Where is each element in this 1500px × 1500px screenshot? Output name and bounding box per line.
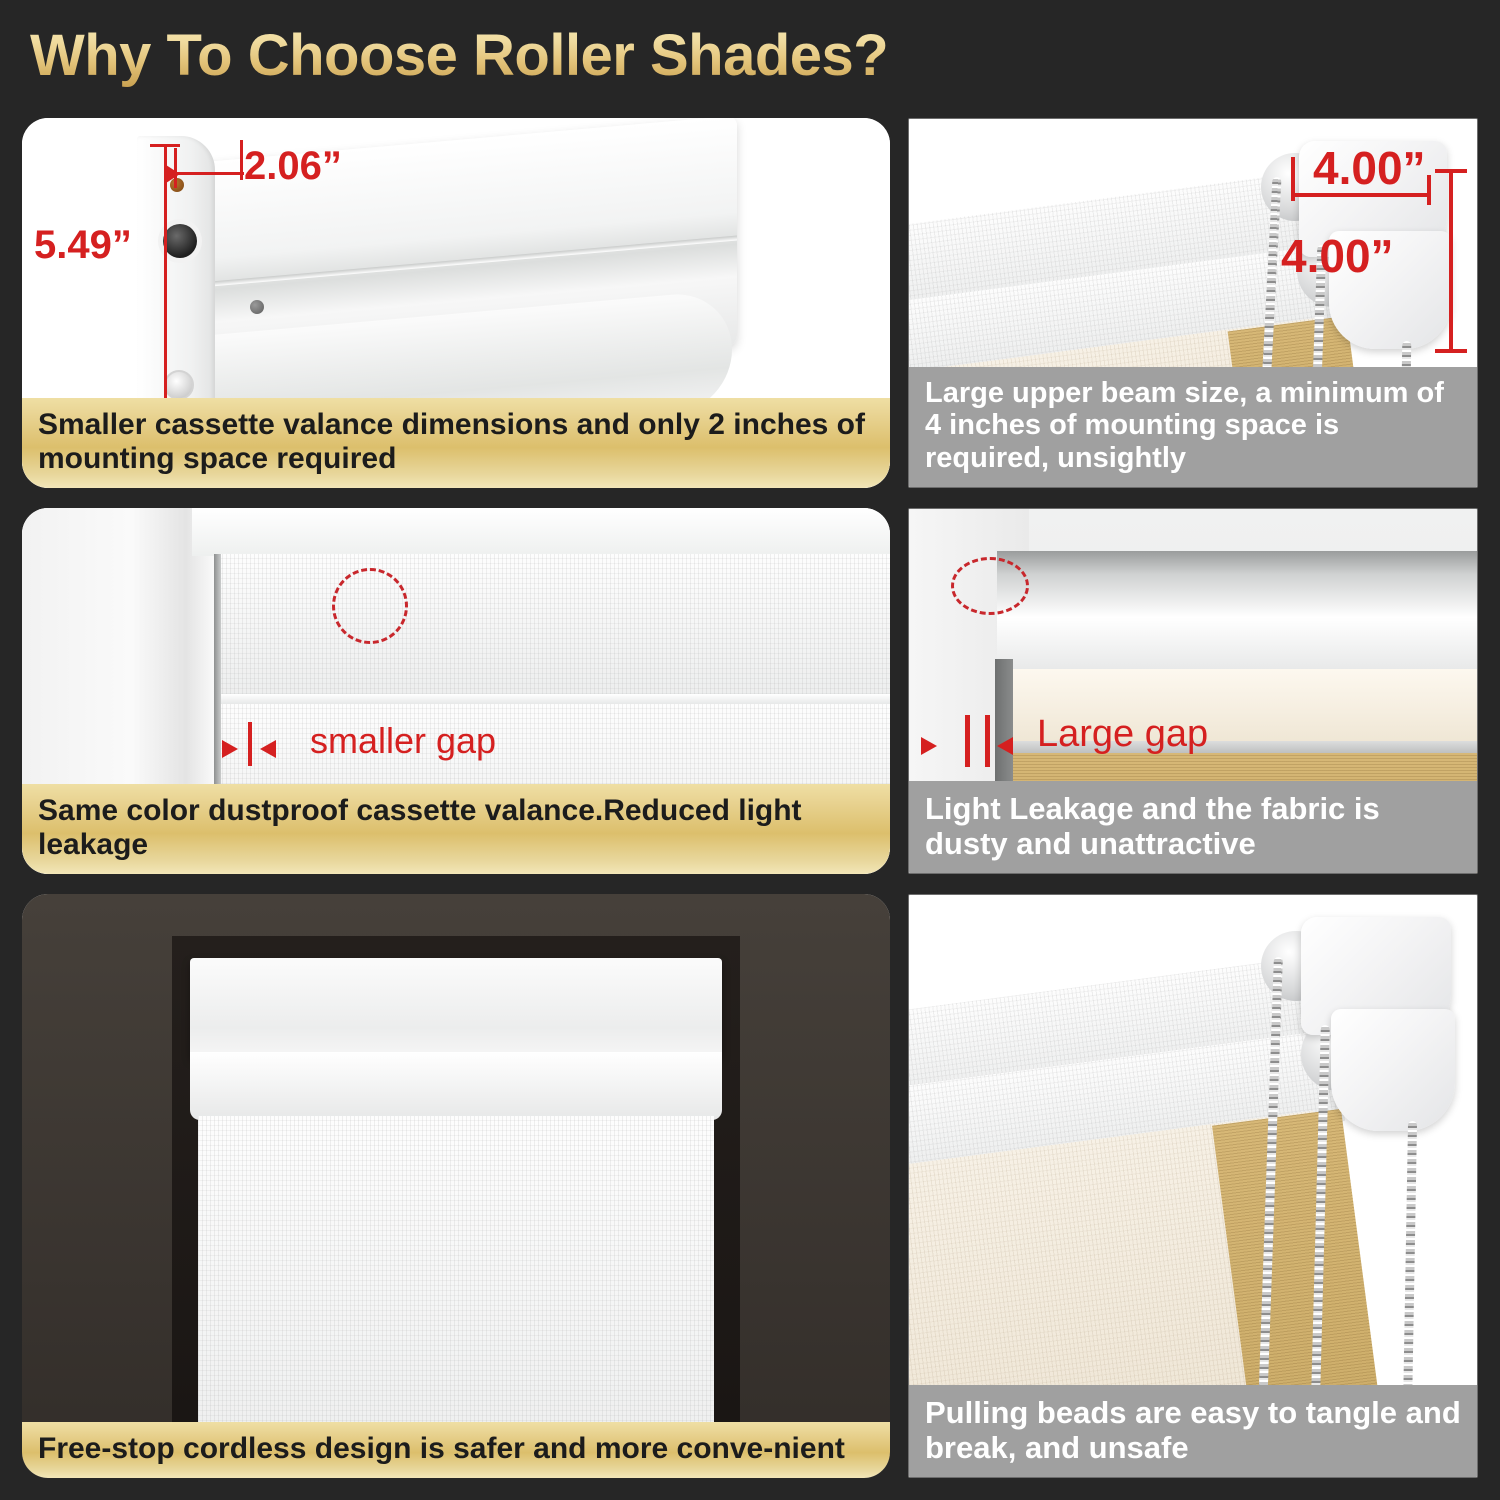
beam-width-tick-right	[1427, 175, 1431, 205]
cassette-valance	[190, 958, 722, 1058]
beam-height-line	[1449, 169, 1453, 353]
gap-marker-line	[985, 715, 990, 767]
panel-caption: Pulling beads are easy to tangle and bre…	[909, 1385, 1477, 1477]
gap-marker-line	[965, 715, 970, 767]
gap-callout-label: smaller gap	[310, 720, 496, 762]
valance-lower-lip	[190, 1052, 722, 1120]
comparison-grid: 2.06” 5.49” Smaller cassette valance dim…	[0, 0, 1500, 1500]
panel-light-leakage: Large gap Light Leakage and the fabric i…	[908, 508, 1478, 874]
height-dim-tick-top	[150, 144, 180, 147]
window-frame-top	[192, 508, 890, 556]
panel-cordless-design: Free-stop cordless design is safer and m…	[22, 894, 890, 1478]
bracket-slot-icon	[163, 224, 197, 258]
gap-arrow-left-icon	[997, 737, 1013, 755]
beam-height-tick-top	[1435, 169, 1467, 173]
panel-caption: Free-stop cordless design is safer and m…	[22, 1422, 890, 1478]
beam-height-label: 4.00”	[1281, 229, 1394, 283]
detail-highlight-circle	[332, 568, 408, 644]
cordless-room-photo	[22, 894, 890, 1478]
panel-large-upper-beam: 4.00” 4.00” Large upper beam size, a min…	[908, 118, 1478, 488]
head-rail	[997, 551, 1477, 679]
valance-face	[218, 554, 890, 704]
panel-caption: Light Leakage and the fabric is dusty an…	[909, 781, 1477, 873]
gap-callout-label: Large gap	[1037, 713, 1208, 756]
width-dim-line	[174, 172, 244, 175]
height-dim-line	[164, 144, 167, 440]
gap-arrow-left-icon	[260, 740, 276, 758]
gap-marker-line	[248, 722, 252, 766]
panel-caption: Large upper beam size, a minimum of 4 in…	[909, 367, 1477, 487]
panel-caption: Same color dustproof cassette valance.Re…	[22, 784, 890, 874]
panel-dustproof-valance: smaller gap Same color dustproof cassett…	[22, 508, 890, 874]
beam-width-label: 4.00”	[1313, 141, 1426, 195]
gap-arrow-right-icon	[222, 740, 238, 758]
beam-width-tick-left	[1291, 157, 1295, 201]
panel-caption: Smaller cassette valance dimensions and …	[22, 398, 890, 488]
width-dim-label: 2.06”	[244, 144, 342, 189]
bracket-pin-icon	[164, 370, 194, 400]
gap-arrow-right-icon	[921, 737, 937, 755]
beam-height-tick-bottom	[1435, 349, 1467, 353]
beam-bracket-lower	[1331, 1009, 1455, 1131]
infographic-root: Why To Choose Roller Shades? 2.06”	[0, 0, 1500, 1500]
height-dim-label: 5.49”	[34, 223, 132, 268]
panel-cassette-dimensions: 2.06” 5.49” Smaller cassette valance dim…	[22, 118, 890, 488]
bracket-screw-icon	[250, 300, 264, 314]
width-dim-arrow-icon	[166, 165, 180, 183]
detail-highlight-circle	[951, 557, 1029, 615]
panel-pulling-beads: Pulling beads are easy to tangle and bre…	[908, 894, 1478, 1478]
